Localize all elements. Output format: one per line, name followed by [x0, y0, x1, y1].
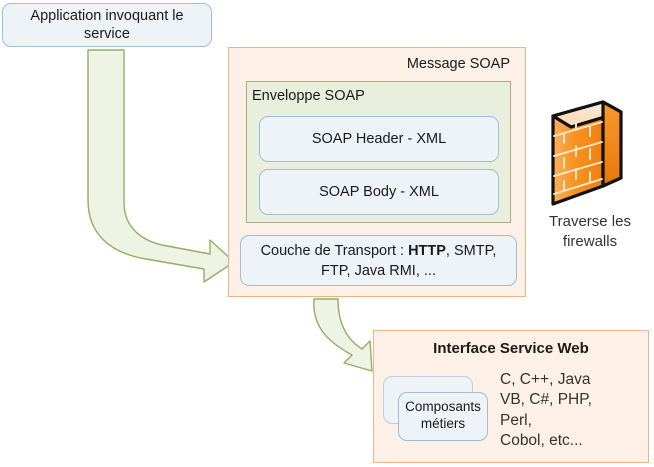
transport-prefix: Couche de Transport :	[261, 243, 409, 259]
soap-body-label: SOAP Body - XML	[259, 169, 499, 215]
business-components-label: Composants métiers	[398, 392, 488, 441]
soap-envelope-title: Enveloppe SOAP	[252, 86, 452, 106]
firewall-caption: Traverse les firewalls	[528, 212, 652, 254]
transport-layer-label: Couche de Transport : HTTP, SMTP, FTP, J…	[240, 235, 517, 286]
diagram-canvas: Application invoquant le service Message…	[0, 0, 654, 467]
web-service-interface-title: Interface Service Web	[373, 338, 649, 360]
soap-message-title: Message SOAP	[236, 54, 518, 74]
supported-languages-list: C, C++, JavaVB, C#, PHP,Perl,Cobol, etc.…	[500, 370, 645, 456]
arrow-app-to-soap	[82, 48, 242, 288]
transport-emphasis: HTTP	[408, 243, 446, 259]
firewall-brick-wall-icon	[546, 98, 630, 210]
invoking-application-label: Application invoquant le service	[2, 3, 212, 47]
soap-header-label: SOAP Header - XML	[259, 116, 499, 162]
